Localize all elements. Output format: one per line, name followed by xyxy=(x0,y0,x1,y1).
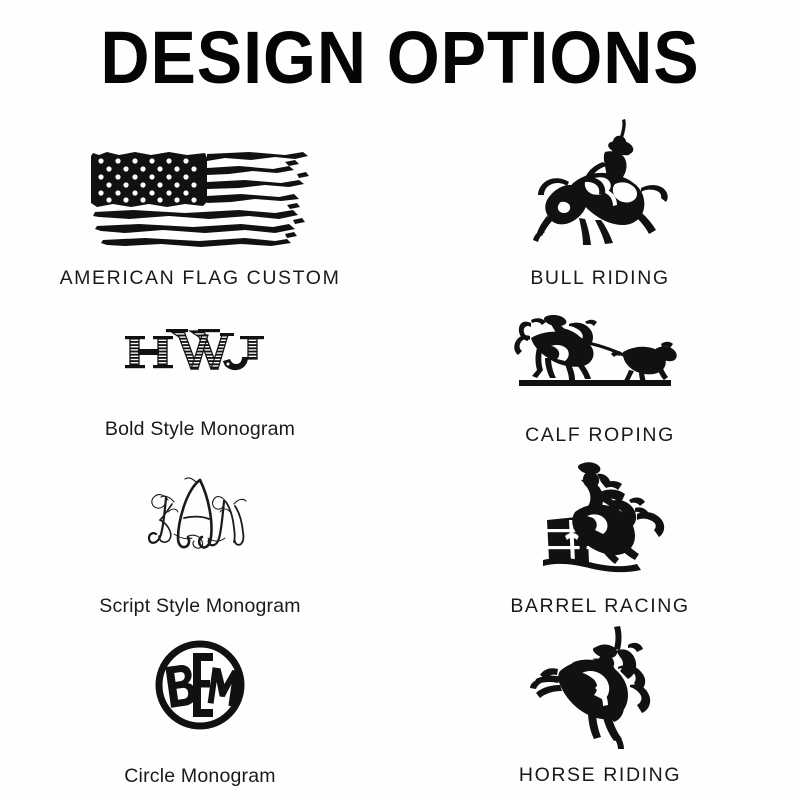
option-label: Bold Style Monogram xyxy=(105,418,295,441)
option-american-flag-custom[interactable]: AMERICAN FLAG CUSTOM xyxy=(0,110,400,290)
option-label: CALF ROPING xyxy=(525,424,675,447)
option-calf-roping[interactable]: CALF ROPING xyxy=(400,290,800,455)
option-label: BARREL RACING xyxy=(510,595,689,618)
circle-monogram-bem-icon xyxy=(0,625,400,735)
bull-riding-icon xyxy=(400,110,800,255)
option-label: HORSE RIDING xyxy=(519,764,681,787)
distressed-american-flag-icon xyxy=(0,110,400,251)
option-label: Script Style Monogram xyxy=(99,595,300,618)
option-label: Circle Monogram xyxy=(124,765,275,788)
bold-monogram-hwj-icon xyxy=(0,290,400,390)
script-monogram-kam-icon xyxy=(0,455,400,565)
barrel-racing-icon xyxy=(400,455,800,577)
design-options-grid: AMERICAN FLAG CUSTOM xyxy=(0,110,800,800)
option-barrel-racing[interactable]: BARREL RACING xyxy=(400,455,800,625)
option-horse-riding[interactable]: HORSE RIDING xyxy=(400,625,800,800)
calf-roping-icon xyxy=(400,290,800,394)
horse-riding-bronc-icon xyxy=(400,625,800,750)
option-bull-riding[interactable]: BULL RIDING xyxy=(400,110,800,290)
option-bold-style-monogram[interactable]: Bold Style Monogram xyxy=(0,290,400,455)
design-options-page: DESIGN OPTIONS xyxy=(0,0,800,800)
option-circle-monogram[interactable]: Circle Monogram xyxy=(0,625,400,800)
option-label: BULL RIDING xyxy=(530,267,669,290)
option-label: AMERICAN FLAG CUSTOM xyxy=(60,267,341,290)
page-title: DESIGN OPTIONS xyxy=(32,18,768,98)
option-script-monogram[interactable]: Script Style Monogram xyxy=(0,455,400,625)
